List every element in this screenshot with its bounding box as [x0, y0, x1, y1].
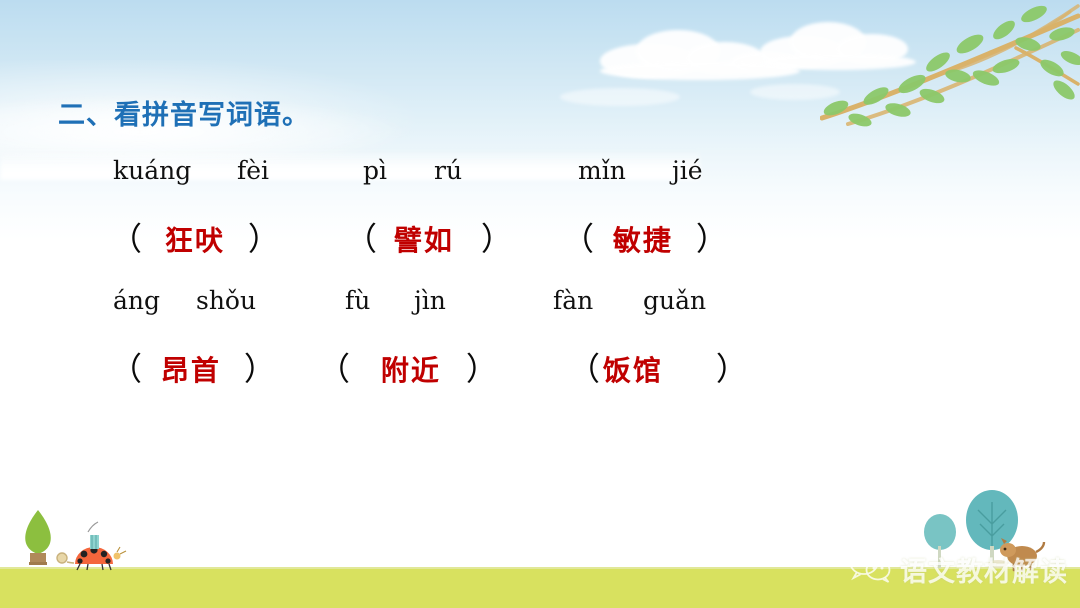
pinyin-syllable: guǎn: [643, 286, 706, 315]
pinyin-syllable: áng: [113, 286, 160, 315]
page-title: 二、看拼音写词语。: [58, 93, 310, 132]
answer-blank[interactable]: （ 附近 ）: [318, 344, 498, 390]
open-paren: （: [568, 350, 600, 388]
close-paren: ）: [696, 220, 728, 258]
answer-word: 饭馆: [603, 354, 663, 387]
answer-blank[interactable]: （ 昂首 ）: [110, 344, 276, 390]
open-paren: （: [562, 220, 594, 258]
answer-blank[interactable]: （ 狂吠 ）: [110, 214, 280, 260]
slide-canvas: 二、看拼音写词语。 kuáng fèi pì rú mǐn jié （ 狂吠 ）…: [0, 0, 1080, 608]
answer-word: 昂首: [161, 354, 221, 387]
open-paren: （: [110, 220, 142, 258]
pinyin-syllable: fèi: [237, 156, 269, 185]
answer-word: 附近: [381, 354, 441, 387]
close-paren: ）: [244, 350, 276, 388]
answer-word: 譬如: [394, 224, 454, 257]
pinyin-syllable: mǐn: [578, 156, 626, 185]
open-paren: （: [318, 350, 350, 388]
left-scene-decoration: [18, 508, 148, 578]
pinyin-syllable: jié: [672, 156, 703, 185]
pinyin-syllable: pì: [363, 156, 387, 185]
close-paren: ）: [481, 220, 513, 258]
pinyin-syllable: jìn: [414, 286, 446, 315]
open-paren: （: [345, 220, 377, 258]
tree-branch-icon: [820, 0, 1080, 140]
answer-word: 敏捷: [613, 224, 673, 257]
answer-blank[interactable]: （ 饭馆 ）: [568, 344, 748, 390]
pinyin-row-1: kuáng fèi pì rú mǐn jié: [0, 156, 1080, 190]
pinyin-row-2: áng shǒu fù jìn fàn guǎn: [0, 286, 1080, 320]
wechat-icon: [848, 550, 892, 589]
answer-row-1: （ 狂吠 ） （ 譬如 ） （ 敏捷 ）: [0, 214, 1080, 256]
open-paren: （: [110, 350, 142, 388]
pinyin-syllable: fù: [345, 286, 370, 315]
close-paren: ）: [248, 220, 280, 258]
pinyin-syllable: kuáng: [113, 156, 191, 185]
answer-row-2: （ 昂首 ） （ 附近 ） （ 饭馆 ）: [0, 344, 1080, 386]
watermark-text: 语文教材解读: [900, 550, 1068, 589]
pinyin-syllable: rú: [434, 156, 462, 185]
answer-blank[interactable]: （ 譬如 ）: [345, 214, 513, 260]
close-paren: ）: [466, 350, 498, 388]
watermark: 语文教材解读: [848, 548, 1068, 590]
pinyin-syllable: fàn: [553, 286, 593, 315]
answer-blank[interactable]: （ 敏捷 ）: [562, 214, 728, 260]
pinyin-syllable: shǒu: [196, 286, 256, 315]
close-paren: ）: [716, 350, 748, 388]
answer-word: 狂吠: [165, 224, 225, 257]
